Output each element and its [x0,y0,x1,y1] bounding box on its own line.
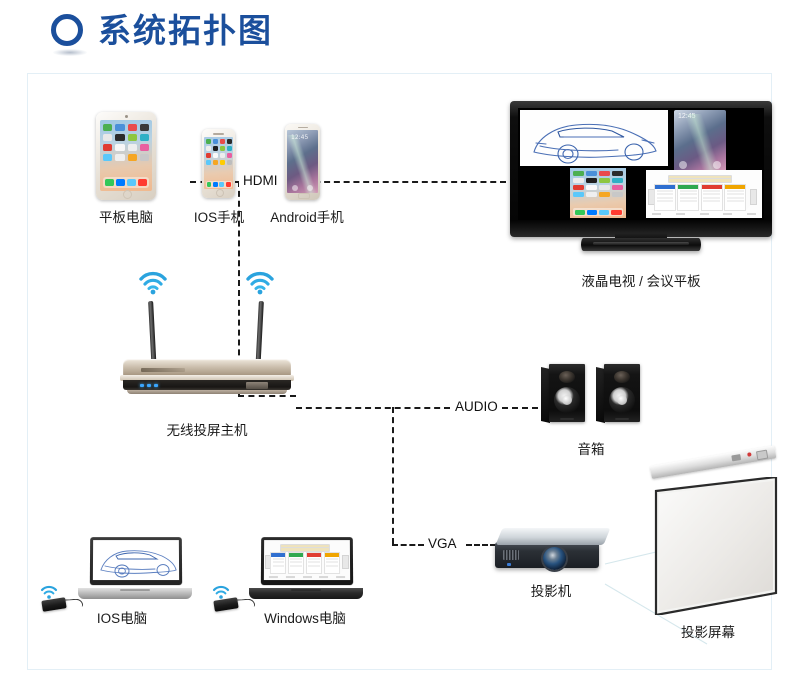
label-tablet: 平板电脑 [72,210,180,226]
lcd-tv[interactable]: 12:45 [510,101,772,254]
iphone-device[interactable] [202,129,235,198]
label-laptop-win: Windows电脑 [230,611,380,627]
macbook-laptop[interactable] [78,537,192,599]
label-laptop-ios: IOS电脑 [67,611,177,627]
wifi-icon-right [245,271,275,295]
speaker-right-face [604,364,640,422]
android-phone-icon [292,185,298,191]
tv-pane-android-left-icon [679,161,687,169]
tablet-dock [103,177,149,188]
roadmap-chart-icon [654,175,746,211]
android-phone-device[interactable]: 12:45 [285,124,320,200]
android-clock: 12:45 [291,134,308,141]
windows-laptop-screen [264,540,350,580]
screen-power-led [747,452,752,457]
label-router: 无线投屏主机 [144,423,270,439]
audio-line-segment-a [296,407,450,409]
tablet-device[interactable] [96,112,156,200]
label-tv: 液晶电视 / 会议平板 [546,274,736,290]
android-home-button[interactable] [298,193,310,199]
macbook-lid [90,537,182,585]
tweeter-icon [559,371,575,383]
tv-pane-tablet-app-grid [573,171,623,197]
bass-port [615,418,629,420]
page-header: 系统拓扑图 [0,0,800,62]
projector-power-led [507,563,511,566]
router-base [127,390,287,394]
usb-wifi-dongle-ios[interactable] [40,585,80,613]
woofer-icon [554,387,580,413]
woofer-icon [609,387,635,413]
label-android: Android手机 [258,210,356,226]
label-speaker: 音箱 [551,442,631,458]
car-sketch-icon [520,110,668,166]
tv-pane-android-right-icon [713,161,721,169]
tv-pane-android: 12:45 [674,110,726,172]
iphone-body [202,129,235,198]
page-title: 系统拓扑图 [98,9,273,53]
vga-line-segment-c [466,544,496,546]
projector-vent [503,550,519,560]
android-earpiece-icon [298,127,308,129]
projector-lens-icon [543,547,566,570]
router-chassis [118,359,296,392]
wifi-icon-left [138,271,168,295]
tablet-screen [100,120,152,191]
hdmi-label: HDMI [239,173,282,188]
tablet-camera-icon [125,115,128,118]
screen-motor-box [756,450,768,461]
label-projection-screen: 投影屏幕 [650,625,766,641]
android-camera-icon [307,185,313,191]
screen-brand-mark [731,454,741,461]
windows-laptop[interactable] [249,537,363,599]
projector-top-cover [496,528,611,545]
router-port[interactable] [246,382,268,389]
speaker-pair[interactable] [541,364,640,424]
speaker-left-face [549,364,585,422]
tv-pane-tablet-dock [573,208,623,216]
roadmap-chart-footer [652,213,756,215]
tweeter-icon [614,371,630,383]
windows-laptop-base [249,588,363,599]
vga-label: VGA [424,536,461,551]
router-status-leds [140,384,158,387]
router-brand-mark [141,368,185,372]
router-top-panel [123,359,291,376]
dongle-cable [64,598,84,607]
macbook-screen [93,540,179,580]
bass-port [560,418,574,420]
audio-label: AUDIO [451,399,502,414]
roadmap-chart-footer [269,576,345,578]
roadmap-chart-icon [270,544,340,574]
tablet-home-button[interactable] [123,190,132,199]
tv-pane-roadmap [646,170,762,218]
tv-panel: 12:45 [518,108,764,220]
usb-wifi-dongle-win[interactable] [212,585,252,613]
android-body: 12:45 [285,124,320,200]
projector[interactable] [495,528,607,576]
speaker-left [541,364,585,422]
car-sketch-icon [93,540,179,580]
iphone-screen [204,137,233,189]
projection-screen[interactable] [645,466,785,631]
iphone-earpiece-icon [213,133,224,135]
blue-ring-icon [51,14,83,46]
windows-laptop-lid [261,537,353,585]
dongle-cable [236,598,256,607]
iphone-app-grid [206,139,232,165]
vga-line-segment-a [392,407,394,544]
iphone-home-button[interactable] [216,189,224,197]
label-projector: 投影机 [504,584,598,600]
tv-pane-car-sketch [520,110,668,166]
tv-stand [581,238,701,251]
vga-line-segment-b [392,544,424,546]
wireless-casting-host[interactable] [118,259,296,414]
tablet-app-grid [103,124,149,161]
iphone-dock [206,181,232,188]
macbook-base [78,588,192,599]
projection-screen-surface [652,477,779,615]
speaker-right [596,364,640,422]
label-iphone: IOS手机 [178,210,260,226]
android-screen: 12:45 [287,130,318,193]
tablet-body [96,112,156,200]
tv-pane-tablet [570,168,626,218]
